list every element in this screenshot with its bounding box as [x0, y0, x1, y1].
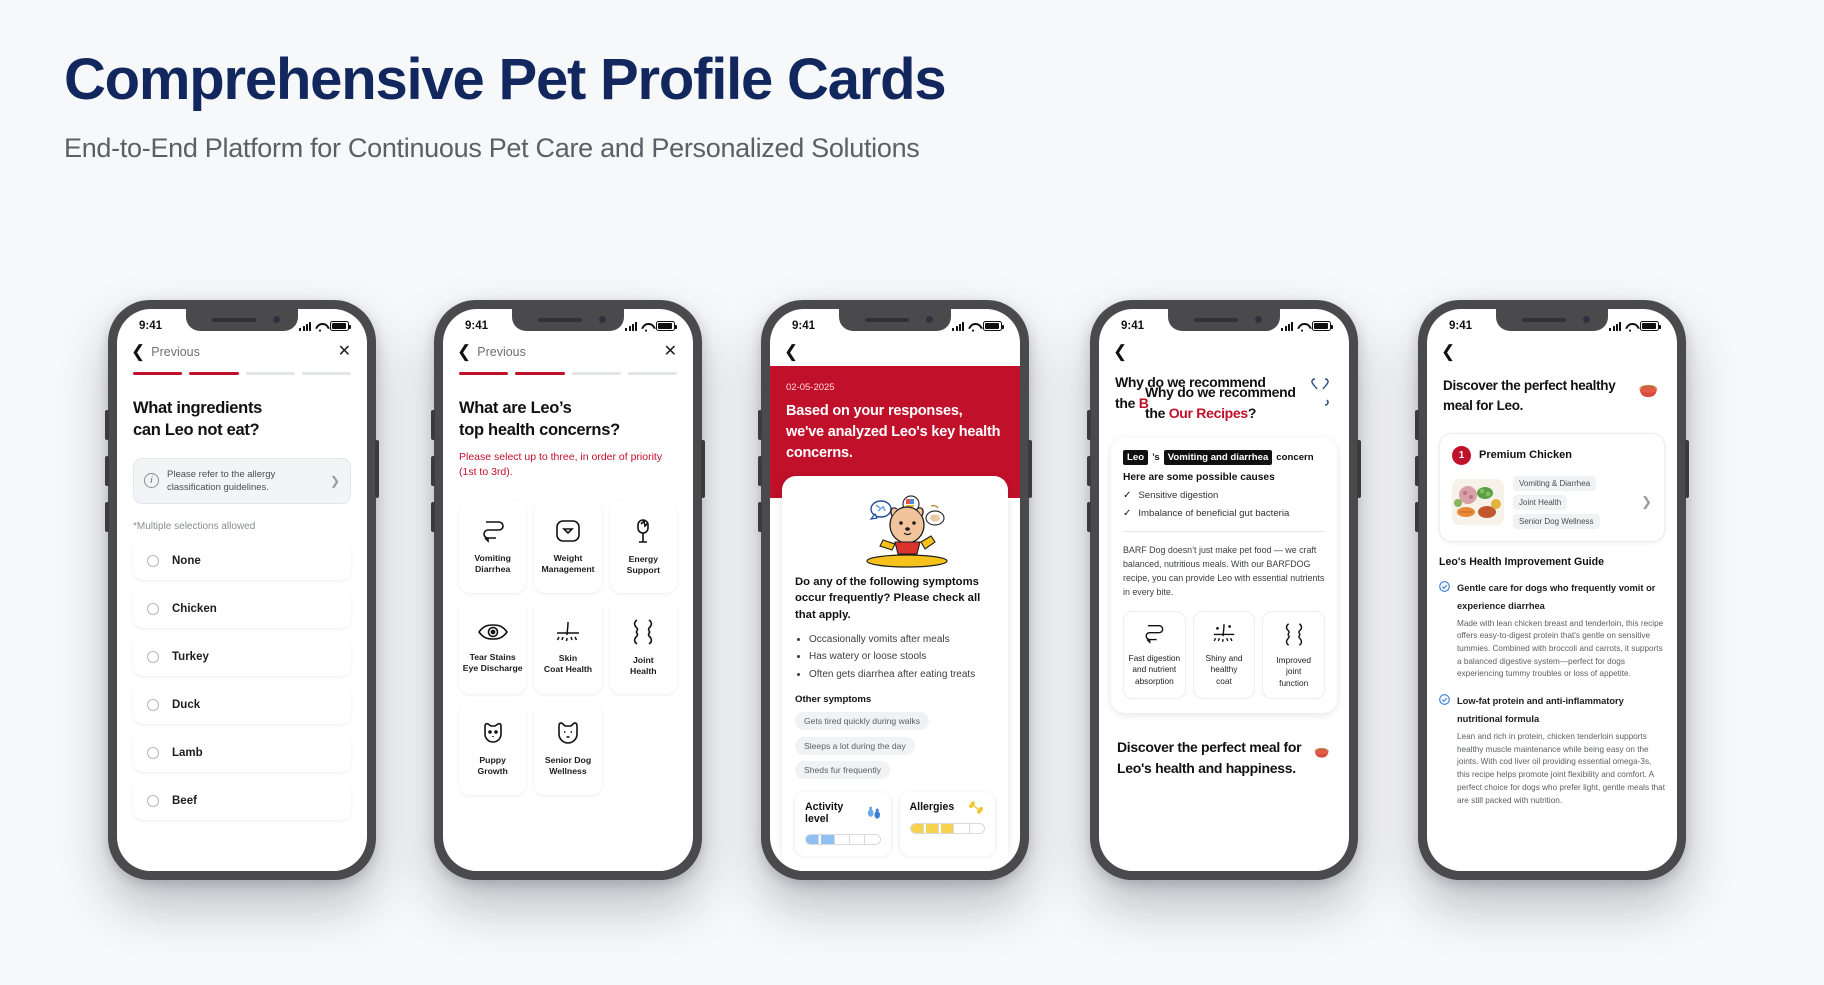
option-row-duck[interactable]: Duck — [133, 685, 351, 724]
phone2-body: What are Leo’s top health concerns? Plea… — [443, 397, 693, 795]
progress-segment — [515, 372, 564, 375]
check-icon: ✓ — [1123, 490, 1131, 501]
option-row-lamb[interactable]: Lamb — [133, 733, 351, 772]
bone-doodle-icon — [1307, 376, 1337, 412]
banner-date: 02-05-2025 — [786, 382, 1004, 393]
symptom-card: Do any of the following symptoms occur f… — [782, 476, 1008, 870]
rank-badge: 1 — [1452, 446, 1471, 465]
cellular-signal-icon — [952, 322, 964, 331]
benefit-card-coat: Shiny andhealthycoat — [1193, 611, 1256, 699]
benefits-grid: Fast digestionand nutrientabsorption Shi… — [1123, 611, 1325, 699]
check-circle-icon — [1439, 692, 1450, 807]
guide-item-title: Low-fat protein and anti-inflammatory nu… — [1457, 696, 1624, 724]
dog-bowl-icon — [1312, 737, 1331, 767]
question-line-2: top health concerns? — [459, 419, 677, 441]
camera-icon — [1255, 316, 1262, 323]
other-symptoms-label: Other symptoms — [795, 694, 995, 705]
concern-label: JointHealth — [630, 655, 657, 678]
status-time: 9:41 — [139, 320, 162, 332]
option-row-none[interactable]: None — [133, 541, 351, 580]
phone-mockup-4: 9:41 ❮ Why do we recommend the B Why do … — [1090, 300, 1358, 880]
phone2-nav-row: ❮ Previous ✕ — [443, 339, 693, 366]
phone-mockup-3: 9:41 ❮ 02-05-2025 Based on your response… — [761, 300, 1029, 880]
page-subtitle: End-to-End Platform for Continuous Pet C… — [64, 133, 945, 164]
health-concern-grid: VomitingDiarrhea WeightManagement — [459, 500, 677, 795]
speaker-icon — [865, 318, 909, 322]
battery-icon — [1312, 321, 1331, 331]
scroll-fade — [1099, 845, 1349, 871]
cellular-signal-icon — [625, 322, 637, 331]
close-icon[interactable]: ✕ — [664, 344, 677, 360]
question-line-1: What ingredients — [133, 397, 351, 419]
status-time: 9:41 — [1449, 320, 1472, 332]
notch — [512, 309, 624, 331]
progress-segment — [133, 372, 182, 375]
battery-icon — [1640, 321, 1659, 331]
allergy-meter — [910, 823, 986, 834]
heading-main-layer: Why do we recommend the Our Recipes? — [1145, 382, 1296, 424]
status-time: 9:41 — [465, 320, 488, 332]
stomach-icon — [478, 518, 508, 544]
recipe-tag: Vomiting & Diarrhea — [1513, 476, 1596, 491]
guide-item: Low-fat protein and anti-inflammatory nu… — [1439, 691, 1665, 807]
phone3-screen: 9:41 ❮ 02-05-2025 Based on your response… — [770, 309, 1020, 871]
cause-text: Sensitive digestion — [1138, 490, 1218, 501]
notch — [1496, 309, 1608, 331]
question-title: What are Leo’s top health concerns? — [459, 397, 677, 442]
concern-grid-filler — [610, 702, 677, 795]
back-button[interactable]: ❮ — [1441, 343, 1455, 360]
benefit-label: Improvedjointfunction — [1276, 655, 1311, 689]
radio-icon[interactable] — [147, 555, 159, 567]
check-circle-icon — [1439, 579, 1450, 682]
metric-card-allergies[interactable]: Allergies — [900, 792, 996, 856]
highlight-line: Leo ’s Vomiting and diarrhea concern — [1123, 450, 1325, 465]
back-label: Previous — [477, 345, 526, 359]
selection-hint: Please select up to three, in order of p… — [459, 450, 677, 480]
option-label: Lamb — [172, 747, 203, 759]
cellular-signal-icon — [1609, 322, 1621, 331]
cellular-signal-icon — [299, 322, 311, 331]
concern-tail: concern — [1276, 452, 1313, 463]
scale-icon — [554, 518, 582, 544]
option-label: None — [172, 555, 201, 567]
benefit-card-digestion: Fast digestionand nutrientabsorption — [1123, 611, 1186, 699]
speaker-icon — [538, 318, 582, 322]
concern-card-puppy-growth[interactable]: PuppyGrowth — [459, 702, 526, 795]
list-item: Has watery or loose stools — [809, 648, 995, 665]
concern-card-vomiting-diarrhea[interactable]: VomitingDiarrhea — [459, 500, 526, 593]
progress-segment — [459, 372, 508, 375]
food-bowl-photo — [1452, 479, 1504, 525]
option-label: Chicken — [172, 603, 217, 615]
back-button[interactable]: ❮ — [784, 343, 798, 360]
senior-dog-icon — [553, 720, 583, 746]
wifi-icon — [1297, 322, 1308, 331]
chevron-right-icon: ❯ — [330, 474, 340, 488]
back-button[interactable]: ❮ Previous — [131, 343, 200, 360]
cause-text: Imbalance of beneficial gut bacteria — [1138, 508, 1289, 519]
concern-highlight: Vomiting and diarrhea — [1164, 450, 1273, 465]
status-time: 9:41 — [1121, 320, 1144, 332]
notch — [839, 309, 951, 331]
possessive: ’s — [1152, 452, 1160, 463]
concern-card-tear-stains[interactable]: Tear StainsEye Discharge — [459, 601, 526, 694]
radio-icon[interactable] — [147, 747, 159, 759]
notice-text: Please refer to the allergy classificati… — [167, 468, 322, 495]
guide-item-body: Lean and rich in protein, chicken tender… — [1457, 731, 1665, 807]
guide-item: Gentle care for dogs who frequently vomi… — [1439, 578, 1665, 682]
phone4-nav-row: ❮ — [1099, 339, 1349, 366]
benefit-label: Shiny andhealthycoat — [1206, 653, 1243, 687]
metric-label: Allergies — [910, 801, 955, 813]
phone-mockup-rail: 9:41 ❮ Previous ✕ — [0, 300, 1824, 920]
concern-label: Senior DogWellness — [545, 755, 591, 778]
phone4-screen: 9:41 ❮ Why do we recommend the B Why do … — [1099, 309, 1349, 871]
hair-follicle-icon — [553, 620, 583, 644]
option-row-beef[interactable]: Beef — [133, 781, 351, 820]
concern-card-senior-dog[interactable]: Senior DogWellness — [534, 702, 601, 795]
guide-item-body: Made with lean chicken breast and tender… — [1457, 618, 1665, 682]
concern-card-weight-management[interactable]: WeightManagement — [534, 500, 601, 593]
chevron-left-icon: ❮ — [457, 343, 471, 360]
metric-card-activity-level[interactable]: Activity level — [795, 792, 891, 856]
option-label: Duck — [172, 699, 200, 711]
recipe-header: 1 Premium Chicken — [1452, 446, 1652, 465]
recipe-tag: Senior Dog Wellness — [1513, 514, 1600, 529]
other-symptom-chips-row2: Sleeps a lot during the day Sheds fur fr… — [795, 737, 995, 779]
concern-label: VomitingDiarrhea — [474, 553, 511, 576]
scroll-fade — [117, 845, 367, 871]
wifi-icon — [1625, 322, 1636, 331]
heading-line2: the Our Recipes? — [1145, 403, 1296, 424]
page-heading: Discover the perfect healthy meal for Le… — [1443, 376, 1628, 417]
question-title: What ingredients can Leo not eat? — [133, 397, 351, 442]
concern-label: Tear StainsEye Discharge — [463, 652, 523, 675]
camera-icon — [926, 316, 933, 323]
back-button[interactable]: ❮ Previous — [457, 343, 526, 360]
hair-follicle-icon — [1210, 622, 1238, 645]
wifi-icon — [315, 322, 326, 331]
other-symptom-chips: Gets tired quickly during walks — [795, 712, 995, 730]
option-label: Turkey — [172, 651, 209, 663]
notch — [186, 309, 298, 331]
dog-illustration — [795, 488, 995, 574]
progress-indicator — [443, 366, 693, 375]
symptom-chip[interactable]: Sleeps a lot during the day — [795, 737, 915, 755]
concern-card-energy-support[interactable]: EnergySupport — [610, 500, 677, 593]
guide-title: Leo's Health Improvement Guide — [1439, 556, 1665, 568]
paw-prints-icon — [866, 806, 881, 820]
progress-segment — [628, 372, 677, 375]
joint-icon — [630, 618, 656, 646]
metrics-row: Activity level — [795, 792, 995, 856]
symptom-chip[interactable]: Sheds fur frequently — [795, 761, 890, 779]
recipe-tag: Joint Health — [1513, 495, 1567, 510]
battery-icon — [656, 321, 675, 331]
cause-item: ✓ Sensitive digestion — [1123, 490, 1325, 501]
chevron-right-icon[interactable]: ❯ — [1641, 494, 1652, 510]
recommendation-card: Leo ’s Vomiting and diarrhea concern Her… — [1111, 438, 1337, 713]
phone5-screen: 9:41 ❮ Discover the perfect healthy meal… — [1427, 309, 1677, 871]
phone-mockup-1: 9:41 ❮ Previous ✕ — [108, 300, 376, 880]
chevron-left-icon: ❮ — [131, 343, 145, 360]
joint-icon — [1282, 622, 1306, 647]
activity-meter — [805, 834, 881, 845]
bone-icon — [968, 801, 985, 814]
energy-iv-icon — [630, 517, 656, 545]
divider — [1123, 531, 1325, 532]
notch — [1168, 309, 1280, 331]
list-item: Occasionally vomits after meals — [809, 631, 995, 648]
option-label: Beef — [172, 795, 197, 807]
concern-label: EnergySupport — [627, 554, 660, 577]
scroll-fade — [443, 845, 693, 871]
guide-item-title: Gentle care for dogs who frequently vomi… — [1457, 583, 1655, 611]
dog-bowl-icon — [1636, 376, 1661, 404]
list-item: Often gets diarrhea after eating treats — [809, 666, 995, 683]
footer-heading: Discover the perfect meal for Leo's heal… — [1117, 737, 1304, 779]
progress-segment — [189, 372, 238, 375]
battery-icon — [330, 321, 349, 331]
wifi-icon — [968, 322, 979, 331]
phone4-footer: Discover the perfect meal for Leo's heal… — [1099, 713, 1349, 779]
page-title: Comprehensive Pet Profile Cards — [64, 50, 945, 111]
recipe-tags: Vomiting & Diarrhea Joint Health Senior … — [1513, 476, 1632, 529]
radio-icon[interactable] — [147, 651, 159, 663]
symptom-bullet-list: Occasionally vomits after meals Has wate… — [809, 631, 995, 683]
page-header: Comprehensive Pet Profile Cards End-to-E… — [64, 50, 945, 164]
metric-label: Activity level — [805, 801, 866, 825]
benefit-label: Fast digestionand nutrientabsorption — [1129, 653, 1181, 687]
phone3-nav-row: ❮ — [770, 339, 1020, 366]
radio-icon[interactable] — [147, 699, 159, 711]
camera-icon — [273, 316, 280, 323]
progress-segment — [572, 372, 621, 375]
banner-headline: Based on your responses, we've analyzed … — [786, 401, 1004, 464]
cause-item: ✓ Imbalance of beneficial gut bacteria — [1123, 508, 1325, 519]
back-button[interactable]: ❮ — [1113, 343, 1127, 360]
recipe-body: Vomiting & Diarrhea Joint Health Senior … — [1452, 476, 1652, 529]
option-row-chicken[interactable]: Chicken — [133, 589, 351, 628]
back-label: Previous — [151, 345, 200, 359]
phone-mockup-5: 9:41 ❮ Discover the perfect healthy meal… — [1418, 300, 1686, 880]
recipe-card[interactable]: 1 Premium Chicken — [1439, 433, 1665, 542]
concern-label: WeightManagement — [541, 553, 594, 576]
pet-name-highlight: Leo — [1123, 450, 1148, 465]
speaker-icon — [1194, 318, 1238, 322]
progress-segment — [246, 372, 295, 375]
recipe-photo — [1452, 479, 1504, 525]
allergy-guideline-notice[interactable]: i Please refer to the allergy classifica… — [133, 458, 351, 505]
battery-icon — [983, 321, 1002, 331]
progress-segment — [302, 372, 351, 375]
phone5-heading-area: Discover the perfect healthy meal for Le… — [1427, 366, 1677, 417]
radio-icon[interactable] — [147, 603, 159, 615]
camera-icon — [1583, 316, 1590, 323]
multi-select-note: *Multiple selections allowed — [133, 521, 351, 532]
wifi-icon — [641, 322, 652, 331]
question-line-1: What are Leo’s — [459, 397, 677, 419]
cellular-signal-icon — [1281, 322, 1293, 331]
progress-indicator — [117, 366, 367, 375]
causes-label: Here are some possible causes — [1123, 472, 1325, 483]
speaker-icon — [212, 318, 256, 322]
concern-label: PuppyGrowth — [477, 755, 507, 778]
recipe-name: Premium Chicken — [1479, 449, 1572, 461]
radio-icon[interactable] — [147, 795, 159, 807]
info-icon: i — [144, 473, 159, 488]
option-row-turkey[interactable]: Turkey — [133, 637, 351, 676]
phone1-nav-row: ❮ Previous ✕ — [117, 339, 367, 366]
question-line-2: can Leo not eat? — [133, 419, 351, 441]
concern-card-joint-health[interactable]: JointHealth — [610, 601, 677, 694]
phone1-screen: 9:41 ❮ Previous ✕ — [117, 309, 367, 871]
stomach-icon — [1141, 622, 1167, 645]
status-time: 9:41 — [792, 320, 815, 332]
concern-label: SkinCoat Health — [544, 653, 592, 676]
brand-paragraph: BARF Dog doesn’t just make pet food — we… — [1123, 543, 1325, 599]
heading-line1: Why do we recommend — [1145, 382, 1296, 403]
phone-mockup-2: 9:41 ❮ Previous ✕ — [434, 300, 702, 880]
phone2-screen: 9:41 ❮ Previous ✕ — [443, 309, 693, 871]
dog-on-surfboard-illustration — [835, 492, 955, 570]
phone1-body: What ingredients can Leo not eat? i Plea… — [117, 397, 367, 820]
close-icon[interactable]: ✕ — [338, 344, 351, 360]
camera-icon — [599, 316, 606, 323]
check-icon: ✓ — [1123, 508, 1131, 519]
concern-card-skin-coat[interactable]: SkinCoat Health — [534, 601, 601, 694]
phone5-nav-row: ❮ — [1427, 339, 1677, 366]
symptom-chip[interactable]: Gets tired quickly during walks — [795, 712, 929, 730]
phone4-heading-area: Why do we recommend the B Why do we reco… — [1099, 366, 1349, 432]
eye-icon — [477, 621, 509, 643]
puppy-icon — [478, 720, 508, 746]
symptom-question: Do any of the following symptoms occur f… — [795, 574, 995, 623]
speaker-icon — [1522, 318, 1566, 322]
benefit-card-joint: Improvedjointfunction — [1262, 611, 1325, 699]
scroll-fade — [1427, 845, 1677, 871]
